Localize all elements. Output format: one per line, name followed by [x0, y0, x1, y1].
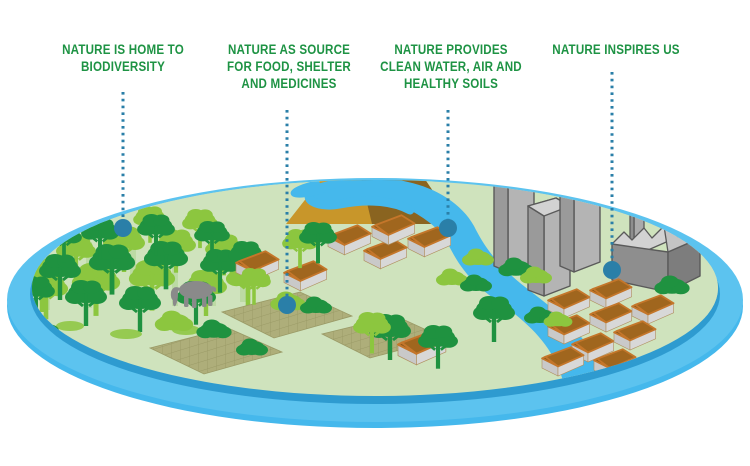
- landscape-scene: [0, 0, 750, 466]
- infographic-root: Nature is home to biodiversity Nature as…: [0, 0, 750, 466]
- connector-dot-food-shelter-medicines[interactable]: [278, 296, 296, 314]
- connector-dot-clean-water-air-soils[interactable]: [439, 219, 457, 237]
- connector-dot-inspires-us[interactable]: [603, 261, 621, 279]
- factory: [612, 194, 700, 292]
- connector-dot-biodiversity[interactable]: [114, 219, 132, 237]
